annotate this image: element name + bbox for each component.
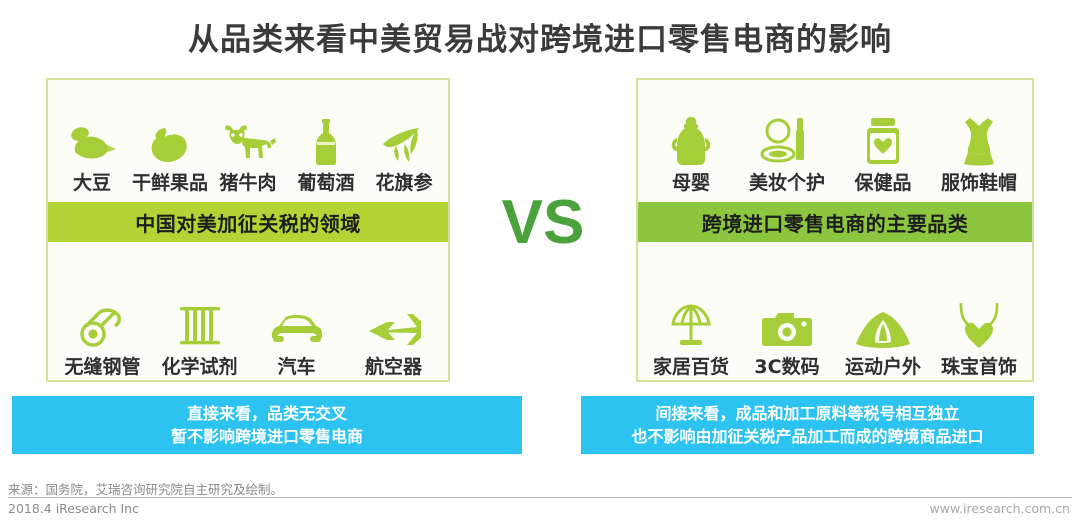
category-label: 汽车 <box>277 357 315 378</box>
soybean-icon <box>65 114 119 166</box>
right-category-panel: 母婴 美妆个护 <box>636 78 1034 382</box>
category-label: 猪牛肉 <box>219 173 276 194</box>
category-cell-aircraft: 航空器 <box>345 298 442 378</box>
category-cell-soybean: 大豆 <box>53 114 131 194</box>
category-label: 美妆个护 <box>749 173 825 194</box>
car-icon <box>269 298 325 350</box>
category-label: 花旗参 <box>375 173 432 194</box>
left-conclusion-box: 直接来看，品类无交叉 暂不影响跨境进口零售电商 <box>12 396 522 454</box>
tent-icon <box>854 298 912 350</box>
wine-bottle-icon <box>309 114 343 166</box>
website-url: www.iresearch.com.cn <box>930 501 1071 516</box>
ginseng-icon <box>379 114 429 166</box>
category-cell-home-goods: 家居百货 <box>643 298 739 378</box>
category-label: 航空器 <box>365 357 422 378</box>
conclusion-line-1: 直接来看，品类无交叉 <box>187 402 347 425</box>
cow-icon <box>220 114 276 166</box>
test-tubes-icon <box>176 298 224 350</box>
conclusion-line-2: 也不影响由加征关税产品加工而成的跨境商品进口 <box>631 425 983 448</box>
footer-divider <box>8 497 1072 498</box>
category-cell-steel-pipe: 无缝钢管 <box>54 298 151 378</box>
right-panel-top-row: 母婴 美妆个护 <box>638 90 1032 194</box>
page-title: 从品类来看中美贸易战对跨境进口零售电商的影响 <box>0 14 1080 59</box>
category-cell-apparel: 服饰鞋帽 <box>931 114 1027 194</box>
category-cell-chemical: 化学试剂 <box>151 298 248 378</box>
category-label: 服饰鞋帽 <box>941 173 1017 194</box>
category-label: 大豆 <box>73 173 111 194</box>
cosmetics-icon <box>760 114 814 166</box>
category-cell-sports-outdoor: 运动户外 <box>835 298 931 378</box>
steel-pipe-icon <box>77 298 129 350</box>
category-cell-health: 保健品 <box>835 114 931 194</box>
category-label: 3C数码 <box>754 357 819 378</box>
category-cell-jewelry: 珠宝首饰 <box>931 298 1027 378</box>
dress-icon <box>957 114 1001 166</box>
left-banner: 中国对美加征关税的领域 <box>48 202 448 242</box>
supplement-jar-icon <box>863 114 903 166</box>
copyright-note: 2018.4 iResearch Inc <box>8 501 139 516</box>
category-cell-maternal-baby: 母婴 <box>643 114 739 194</box>
right-panel-bottom-row: 家居百货 3C数码 <box>638 268 1032 378</box>
category-label: 母婴 <box>672 173 710 194</box>
category-cell-ginseng: 花旗参 <box>365 114 443 194</box>
apple-icon <box>143 114 197 166</box>
airplane-icon <box>367 298 421 350</box>
conclusion-line-1: 间接来看，成品和加工原料等税号相互独立 <box>655 402 959 425</box>
category-cell-meat: 猪牛肉 <box>209 114 287 194</box>
necklace-icon <box>955 298 1003 350</box>
source-note: 来源：国务院，艾瑞咨询研究院自主研究及绘制。 <box>8 479 283 498</box>
left-category-panel: 大豆 干鲜果品 <box>46 78 450 382</box>
right-banner: 跨境进口零售电商的主要品类 <box>638 202 1032 242</box>
right-conclusion-box: 间接来看，成品和加工原料等税号相互独立 也不影响由加征关税产品加工而成的跨境商品… <box>581 396 1034 454</box>
left-panel-top-row: 大豆 干鲜果品 <box>48 90 448 194</box>
category-cell-3c-digital: 3C数码 <box>739 298 835 378</box>
category-label: 葡萄酒 <box>297 173 354 194</box>
baby-bottle-icon <box>669 114 713 166</box>
category-label: 珠宝首饰 <box>941 357 1017 378</box>
conclusion-line-2: 暂不影响跨境进口零售电商 <box>171 425 363 448</box>
category-label: 化学试剂 <box>161 357 237 378</box>
category-label: 干鲜果品 <box>132 173 208 194</box>
table-lamp-icon <box>667 298 715 350</box>
camera-icon <box>761 298 813 350</box>
category-cell-beauty: 美妆个护 <box>739 114 835 194</box>
category-cell-car: 汽车 <box>248 298 345 378</box>
category-label: 家居百货 <box>653 357 729 378</box>
category-cell-fruit: 干鲜果品 <box>131 114 209 194</box>
infographic-page: 从品类来看中美贸易战对跨境进口零售电商的影响 大豆 <box>0 0 1080 524</box>
category-label: 保健品 <box>854 173 911 194</box>
vs-divider: VS <box>450 192 636 254</box>
category-label: 无缝钢管 <box>64 357 140 378</box>
left-panel-bottom-row: 无缝钢管 <box>48 268 448 378</box>
category-label: 运动户外 <box>845 357 921 378</box>
category-cell-wine: 葡萄酒 <box>287 114 365 194</box>
